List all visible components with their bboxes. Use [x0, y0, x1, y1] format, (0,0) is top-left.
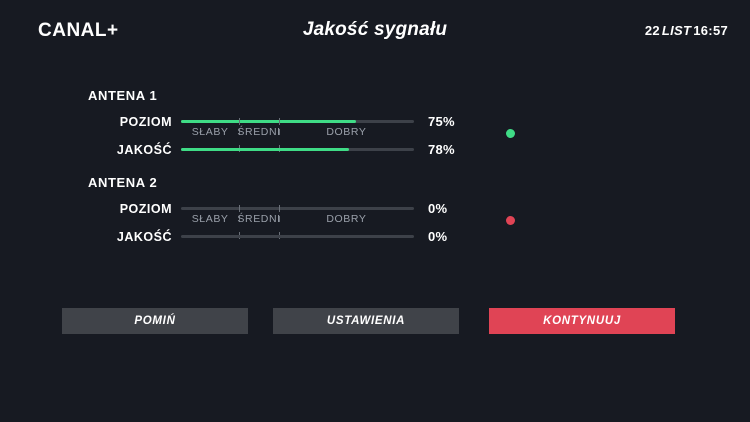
antenna-2-status-dot	[506, 216, 515, 225]
antenna-1-quality-row: JAKOŚĆ 78%	[0, 142, 750, 158]
antenna-2-quality-value: 0%	[428, 229, 472, 244]
scale-label-medium: ŚREDNI	[219, 126, 299, 138]
clock-day: 22	[645, 23, 660, 38]
antenna-1-quality-label: JAKOŚĆ	[60, 143, 172, 157]
continue-button[interactable]: KONTYNUUJ	[489, 308, 675, 334]
scale-tick-weak-medium-top	[239, 118, 240, 125]
skip-button[interactable]: POMIŃ	[62, 308, 248, 334]
button-bar: POMIŃ USTAWIENIA KONTYNUUJ	[0, 308, 750, 334]
scale-tick-medium-good-top	[279, 205, 280, 212]
antenna-2-title: ANTENA 2	[88, 175, 157, 190]
antenna-2-level-track	[181, 207, 414, 210]
antenna-1-level-value: 75%	[428, 114, 472, 129]
antenna-2-level-value: 0%	[428, 201, 472, 216]
antenna-1-quality-fill	[181, 148, 349, 151]
clock-datetime: 22LIST16:57	[645, 23, 728, 38]
page-title: Jakość sygnału	[0, 19, 750, 41]
scale-label-medium: ŚREDNI	[219, 213, 299, 225]
antenna-2-quality-label: JAKOŚĆ	[60, 230, 172, 244]
antenna-2-quality-track	[181, 235, 414, 238]
antenna-1-title: ANTENA 1	[88, 88, 157, 103]
antenna-1-level-track	[181, 120, 414, 123]
header-bar: CANAL+ Jakość sygnału 22LIST16:57	[0, 0, 750, 60]
antenna-2-scale-labels: SŁABY ŚREDNI DOBRY	[181, 213, 414, 227]
antenna-1-level-fill	[181, 120, 356, 123]
antenna-1-scale-labels: SŁABY ŚREDNI DOBRY	[181, 126, 414, 140]
settings-button[interactable]: USTAWIENIA	[273, 308, 459, 334]
clock-time: 16:57	[693, 23, 728, 38]
antenna-1-level-label: POZIOM	[60, 115, 172, 129]
antenna-2-level-label: POZIOM	[60, 202, 172, 216]
scale-tick-medium-good-top	[279, 118, 280, 125]
antenna-1-quality-value: 78%	[428, 142, 472, 157]
scale-label-good: DOBRY	[306, 126, 386, 138]
clock-month: LIST	[660, 23, 693, 38]
scale-tick-weak-medium-top	[239, 205, 240, 212]
antenna-2-quality-row: JAKOŚĆ 0%	[0, 229, 750, 245]
antenna-1-status-dot	[506, 129, 515, 138]
antenna-1-quality-track	[181, 148, 414, 151]
scale-label-good: DOBRY	[306, 213, 386, 225]
